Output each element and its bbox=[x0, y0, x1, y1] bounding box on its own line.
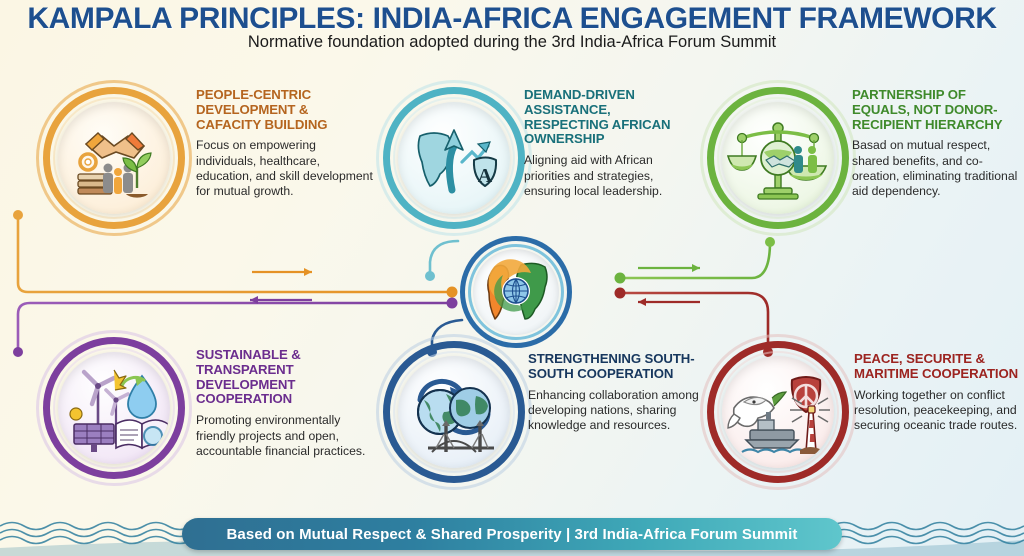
principle-heading: PARTNERSHIP OF EQUALS, NOT DONOR-RECIPIE… bbox=[852, 88, 1020, 132]
svg-text:A: A bbox=[478, 165, 493, 187]
principle-body: Focus on empowering individuals, healthc… bbox=[196, 138, 374, 200]
twin-globes-bridge-icon bbox=[398, 356, 510, 468]
principle-icon-circle-south-south[interactable] bbox=[376, 334, 532, 490]
principle-text-peace: PEACE, SECURITE & MARITIME COOPERATION W… bbox=[854, 352, 1022, 434]
principle-heading: SUSTAINABLE & TRANSPARENT DEVELOPMENT CO… bbox=[196, 348, 380, 407]
footer-text: Based on Mutual Respect & Shared Prosper… bbox=[227, 526, 798, 543]
principle-body: Promoting environmentally friendly proje… bbox=[196, 413, 380, 459]
central-hub[interactable] bbox=[460, 236, 572, 348]
principle-body: Basad on mutual respect, shared benefits… bbox=[852, 138, 1020, 200]
principle-icon-circle-partnership[interactable] bbox=[700, 80, 856, 236]
principle-heading: PEOPLE-CENTRIC DEVELOPMENT & CAFACITY BU… bbox=[196, 88, 374, 132]
principle-text-south-south: STRENGTHENING SOUTH-SOUTH COOPERATION En… bbox=[528, 352, 700, 434]
footer-banner: Based on Mutual Respect & Shared Prosper… bbox=[182, 518, 842, 550]
handshake-books-plant-icon bbox=[58, 102, 170, 214]
principle-icon-circle-sustainable[interactable] bbox=[36, 330, 192, 486]
principle-heading: DEMAND-DRIVEN ASSISTANCE, RESPECTING AFR… bbox=[524, 88, 696, 147]
dove-peace-ship-lighthouse-icon bbox=[722, 356, 834, 468]
principle-text-partnership: PARTNERSHIP OF EQUALS, NOT DONOR-RECIPIE… bbox=[852, 88, 1020, 200]
infographic-canvas: KAMPALA PRINCIPLES: INDIA-AFRICA ENGAGEM… bbox=[0, 0, 1024, 556]
principle-heading: PEACE, SECURITE & MARITIME COOPERATION bbox=[854, 352, 1022, 382]
principle-body: Aligning aid with African priorities and… bbox=[524, 153, 696, 199]
principle-icon-circle-demand-driven[interactable]: A bbox=[376, 80, 532, 236]
renewable-energy-transparency-icon bbox=[58, 352, 170, 464]
principle-icon-circle-people-centric[interactable] bbox=[36, 80, 192, 236]
africa-growth-shield-icon: A bbox=[398, 102, 510, 214]
balance-scale-handshake-icon bbox=[722, 102, 834, 214]
india-africa-globe-icon bbox=[473, 249, 559, 335]
principle-body: Enhancing collaboration among developing… bbox=[528, 388, 700, 434]
principle-heading: STRENGTHENING SOUTH-SOUTH COOPERATION bbox=[528, 352, 700, 382]
principle-text-people-centric: PEOPLE-CENTRIC DEVELOPMENT & CAFACITY BU… bbox=[196, 88, 374, 200]
principle-text-demand-driven: DEMAND-DRIVEN ASSISTANCE, RESPECTING AFR… bbox=[524, 88, 696, 199]
principle-body: Working together on conflict resolution,… bbox=[854, 388, 1022, 434]
principle-text-sustainable: SUSTAINABLE & TRANSPARENT DEVELOPMENT CO… bbox=[196, 348, 380, 459]
principle-icon-circle-peace[interactable] bbox=[700, 334, 856, 490]
